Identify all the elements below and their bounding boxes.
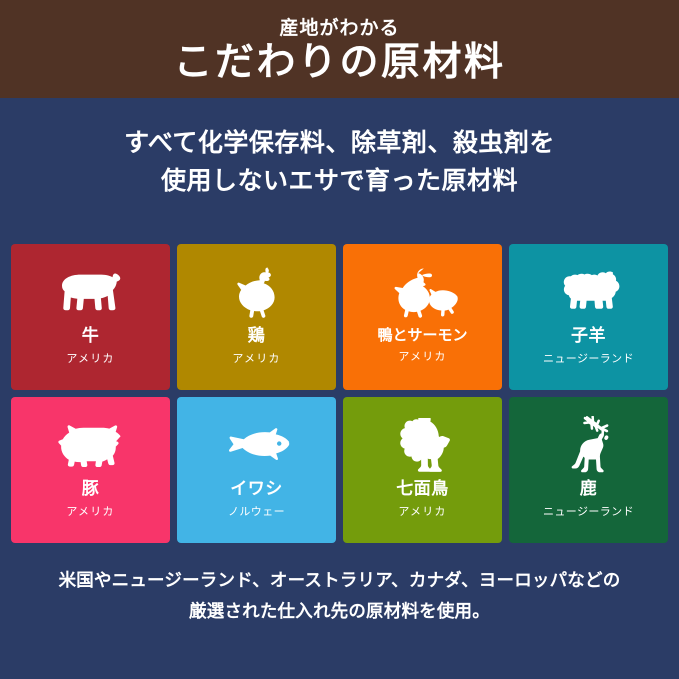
footer-line-1: 米国やニュージーランド、オーストラリア、カナダ、ヨーロッパなどの <box>0 566 679 597</box>
header-banner: 産地がわかる こだわりの原材料 <box>0 0 679 98</box>
page-title: こだわりの原材料 <box>173 42 505 85</box>
ingredient-card-lamb[interactable]: 子羊 ニュージーランド <box>509 244 668 390</box>
cow-icon <box>58 261 124 323</box>
ingredient-name: 豚 <box>82 480 100 499</box>
ingredient-origin: アメリカ <box>66 352 114 365</box>
ingredient-grid: 牛 アメリカ 鶏 アメリカ <box>11 244 668 543</box>
sardine-icon <box>222 414 292 476</box>
ingredient-name: 牛 <box>82 327 100 346</box>
ingredient-card-pork[interactable]: 豚 アメリカ <box>11 397 170 543</box>
ingredient-card-turkey[interactable]: 七面鳥 アメリカ <box>343 397 502 543</box>
footer-note: 米国やニュージーランド、オーストラリア、カナダ、ヨーロッパなどの 厳選された仕入… <box>0 566 679 627</box>
ingredient-origin: アメリカ <box>398 350 446 363</box>
ingredient-card-venison[interactable]: 鹿 ニュージーランド <box>509 397 668 543</box>
chicken-icon <box>232 261 282 323</box>
ingredient-name: 子羊 <box>571 327 606 346</box>
ingredient-card-chicken[interactable]: 鶏 アメリカ <box>177 244 336 390</box>
ingredient-name: 鶏 <box>248 327 266 346</box>
turkey-icon <box>392 414 454 476</box>
sheep-icon <box>557 261 621 323</box>
infographic-page: 産地がわかる こだわりの原材料 すべて化学保存料、除草剤、殺虫剤を 使用しないエ… <box>0 0 679 679</box>
subtitle-line-2: 使用しないエサで育った原材料 <box>0 162 679 200</box>
header-eyebrow: 産地がわかる <box>279 18 399 39</box>
ingredient-name: 七面鳥 <box>396 480 449 499</box>
deer-icon <box>563 414 615 476</box>
ingredient-origin: ニュージーランド <box>543 505 634 518</box>
footer-line-2: 厳選された仕入れ先の原材料を使用。 <box>0 597 679 628</box>
ingredient-origin: ノルウェー <box>228 505 285 518</box>
subtitle-block: すべて化学保存料、除草剤、殺虫剤を 使用しないエサで育った原材料 <box>0 98 679 200</box>
ingredient-card-beef[interactable]: 牛 アメリカ <box>11 244 170 390</box>
ingredient-origin: アメリカ <box>232 352 280 365</box>
subtitle-line-1: すべて化学保存料、除草剤、殺虫剤を <box>0 124 679 162</box>
duck-salmon-icon <box>386 261 460 323</box>
ingredient-origin: アメリカ <box>66 505 114 518</box>
ingredient-name: 鴨とサーモン <box>377 327 467 344</box>
ingredient-origin: アメリカ <box>398 505 446 518</box>
ingredient-name: 鹿 <box>580 480 598 499</box>
ingredient-card-duck-salmon[interactable]: 鴨とサーモン アメリカ <box>343 244 502 390</box>
pig-icon <box>57 414 125 476</box>
ingredient-card-sardine[interactable]: イワシ ノルウェー <box>177 397 336 543</box>
ingredient-name: イワシ <box>230 480 283 499</box>
ingredient-origin: ニュージーランド <box>543 352 634 365</box>
